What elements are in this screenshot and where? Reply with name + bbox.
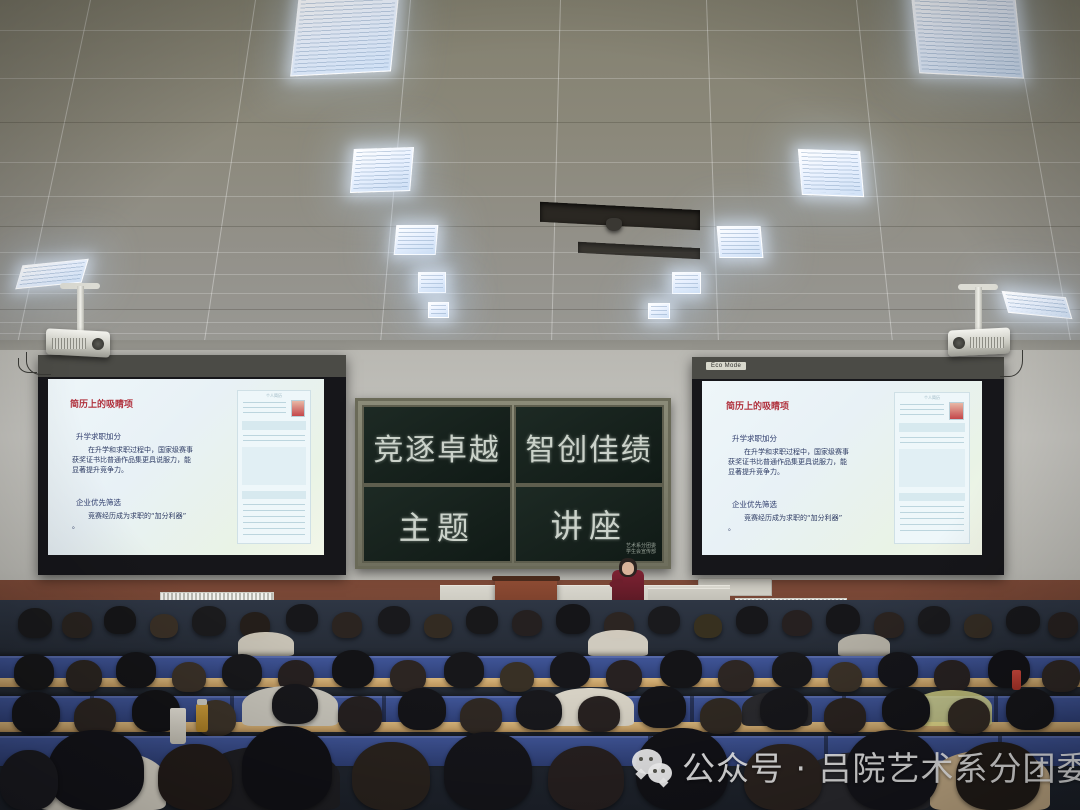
blackboard-panel-bottom-right: 讲座 艺术系分团委 学生会宣传部: [514, 485, 664, 563]
resume-section: [899, 449, 965, 487]
ceiling-light: [717, 226, 764, 258]
audience-head: [1006, 606, 1040, 634]
water-bottle: [1012, 670, 1021, 690]
audience-head: [828, 662, 862, 692]
audience-head: [846, 730, 938, 810]
audience-head: [826, 604, 860, 634]
resume-thumbnail: 个人简历: [237, 390, 311, 544]
resume-section: [899, 493, 965, 501]
audience-head: [18, 608, 52, 638]
slide-body-line: 显著提升竞争力。: [728, 467, 849, 477]
slide-bullet-body: 在升学和求职过程中，国家级赛事 获奖证书比普通作品集更具说服力，能 显著提升竞争…: [72, 445, 193, 475]
ceiling-light: [428, 302, 449, 318]
audience-head: [192, 606, 226, 636]
ceiling-light: [910, 0, 1024, 79]
blackboard-panel-top-left: 竞逐卓越: [362, 405, 512, 485]
audience-head: [918, 606, 950, 634]
audience-head: [398, 688, 446, 730]
audience-head: [466, 606, 498, 634]
resume-section: [899, 423, 965, 432]
resume-caption: 个人简历: [895, 395, 969, 401]
audience-head: [512, 610, 542, 636]
ceiling-light: [648, 303, 670, 319]
resume-section: [242, 421, 306, 430]
audience-head: [578, 696, 620, 732]
resume-photo: [291, 400, 305, 417]
slide-bullet-heading: 企业优先筛选: [732, 499, 777, 510]
audience-head: [700, 698, 742, 734]
ceiling-opening: [578, 242, 700, 259]
audience-head: [744, 744, 822, 810]
audience-head: [516, 690, 562, 730]
audience-head: [62, 612, 92, 638]
audience-head: [824, 698, 866, 734]
right-projector-screen[interactable]: Eco Mode 简历上的吸睛项 升学求职加分 在升学和求职过程中，国家级赛事 …: [692, 357, 1004, 575]
audience-head: [242, 726, 332, 810]
chalk-signature-line: 艺术系分团委: [626, 543, 656, 549]
projector-lens-icon: [953, 337, 965, 349]
eco-mode-badge: Eco Mode: [706, 362, 746, 370]
audience-head: [460, 698, 502, 734]
chalk-text: 竞逐卓越: [364, 425, 510, 469]
audience-head: [934, 660, 970, 692]
audience-head: [116, 652, 156, 688]
audience-head: [760, 688, 808, 730]
bottle-cap: [197, 699, 207, 705]
audience-head: [1042, 660, 1080, 692]
audience-head: [424, 614, 452, 638]
water-bottle: [196, 704, 208, 732]
audience-head: [736, 606, 768, 634]
audience-head: [332, 612, 362, 638]
ceiling-light: [290, 0, 400, 77]
chalk-text: 智创佳绩: [516, 425, 662, 469]
slide-bullet-heading: 升学求职加分: [76, 431, 121, 442]
audience-head: [648, 606, 680, 634]
resume-section: [242, 447, 306, 485]
chalk-text: 主题: [364, 503, 510, 549]
audience-desk: [0, 678, 1080, 687]
audience-head: [66, 660, 102, 692]
blackboard: 竞逐卓越 智创佳绩 主题 讲座 艺术系分团委 学生会宣传部: [355, 398, 671, 569]
blackboard-panel-top-right: 智创佳绩: [514, 405, 664, 485]
audience-head: [956, 742, 1040, 810]
audience-head: [988, 650, 1030, 688]
resume-section: [242, 491, 306, 499]
chalk-signature-line: 学生会宣传部: [626, 549, 656, 555]
audience-head: [548, 746, 624, 810]
slide-title: 简历上的吸睛项: [726, 399, 789, 412]
audience-head: [444, 732, 532, 810]
audience-head: [1006, 688, 1054, 730]
chalk-signature: 艺术系分团委 学生会宣传部: [626, 543, 656, 556]
audience-head: [606, 660, 642, 692]
audience-head: [782, 610, 812, 636]
ceiling-light: [798, 149, 864, 197]
audience-head: [338, 696, 382, 734]
audience-head: [332, 650, 374, 688]
slide-surface-left: 简历上的吸睛项 升学求职加分 在升学和求职过程中，国家级赛事 获奖证书比普通作品…: [48, 379, 324, 555]
resume-caption: 个人简历: [238, 393, 310, 399]
audience-head: [172, 662, 206, 692]
slide-body-line: 在升学和求职过程中，国家级赛事: [72, 445, 193, 455]
audience-head: [352, 742, 430, 810]
slide-body-line: 显著提升竞争力。: [72, 465, 193, 475]
audience-head: [636, 728, 728, 810]
audience-head: [104, 606, 136, 634]
slide-body-line: 在升学和求职过程中，国家级赛事: [728, 447, 849, 457]
slide-body-line: 竞赛经历成为求职的“加分利器”: [728, 513, 842, 523]
audience-head: [150, 614, 178, 638]
audience-head: [0, 750, 58, 810]
projector-lens-icon: [92, 338, 104, 350]
audience-head: [286, 604, 318, 632]
audience-head: [444, 652, 484, 688]
audience-shoulder: [838, 634, 890, 656]
audience-head: [12, 692, 60, 734]
audience-head: [48, 730, 144, 810]
audience-head: [378, 606, 410, 634]
audience-head: [14, 654, 54, 690]
audience-head: [718, 660, 754, 692]
audience-shoulder: [238, 632, 294, 656]
audience-shoulder: [588, 630, 648, 656]
screen-top-bar: [38, 355, 346, 377]
audience-head: [694, 614, 722, 638]
slide-bullet-body: 竞赛经历成为求职的“加分利器” 。: [72, 511, 186, 531]
slide-body-line: 获奖证书比普通作品集更具说服力，能: [728, 457, 849, 467]
left-projector-screen[interactable]: 简历上的吸睛项 升学求职加分 在升学和求职过程中，国家级赛事 获奖证书比普通作品…: [38, 355, 346, 575]
ceiling-light: [672, 272, 701, 294]
slide-bullet-body: 竞赛经历成为求职的“加分利器” 。: [728, 513, 842, 533]
slide-body-line: 。: [728, 523, 842, 533]
audience-head: [500, 662, 534, 692]
ceiling-camera-icon: [606, 218, 622, 231]
slide-body-line: 。: [72, 521, 186, 531]
seat-row[interactable]: [0, 656, 1080, 680]
audience-head: [878, 652, 918, 688]
audience-head: [1048, 612, 1078, 638]
audience-head: [556, 604, 590, 634]
audience-head: [874, 612, 904, 638]
audience-head: [550, 652, 590, 688]
ceiling-light: [394, 225, 439, 255]
slide-body-line: 获奖证书比普通作品集更具说服力，能: [72, 455, 193, 465]
slide-title: 简历上的吸睛项: [70, 397, 133, 410]
slide-bullet-heading: 企业优先筛选: [76, 497, 121, 508]
resume-thumbnail: 个人简历: [894, 392, 970, 544]
blackboard-panel-bottom-left: 主题: [362, 485, 512, 563]
slide-bullet-body: 在升学和求职过程中，国家级赛事 获奖证书比普通作品集更具说服力，能 显著提升竞争…: [728, 447, 849, 477]
audience-head: [272, 684, 318, 724]
audience-head: [948, 698, 990, 734]
screen-top-bar: Eco Mode: [692, 357, 1004, 379]
audience-head: [964, 614, 992, 638]
ceiling-light: [418, 272, 446, 293]
lecture-hall-photo: 简历上的吸睛项 升学求职加分 在升学和求职过程中，国家级赛事 获奖证书比普通作品…: [0, 0, 1080, 810]
thermos: [170, 708, 186, 744]
resume-photo: [949, 402, 964, 420]
audience-head: [882, 688, 930, 730]
ceiling-light: [350, 147, 414, 193]
audience-area: [0, 600, 1080, 810]
podium-top: [492, 576, 560, 581]
slide-surface-right: 简历上的吸睛项 升学求职加分 在升学和求职过程中，国家级赛事 获奖证书比普通作品…: [702, 381, 982, 555]
ceiling: [0, 0, 1080, 372]
audience-head: [772, 652, 812, 688]
audience-head: [660, 650, 702, 688]
chalk-text: 讲座: [516, 501, 662, 547]
audience-head: [638, 686, 686, 728]
speaker-face: [622, 562, 634, 575]
slide-bullet-heading: 升学求职加分: [732, 433, 777, 444]
audience-head: [222, 654, 262, 690]
slide-body-line: 竞赛经历成为求职的“加分利器”: [72, 511, 186, 521]
audience-head: [158, 744, 232, 810]
